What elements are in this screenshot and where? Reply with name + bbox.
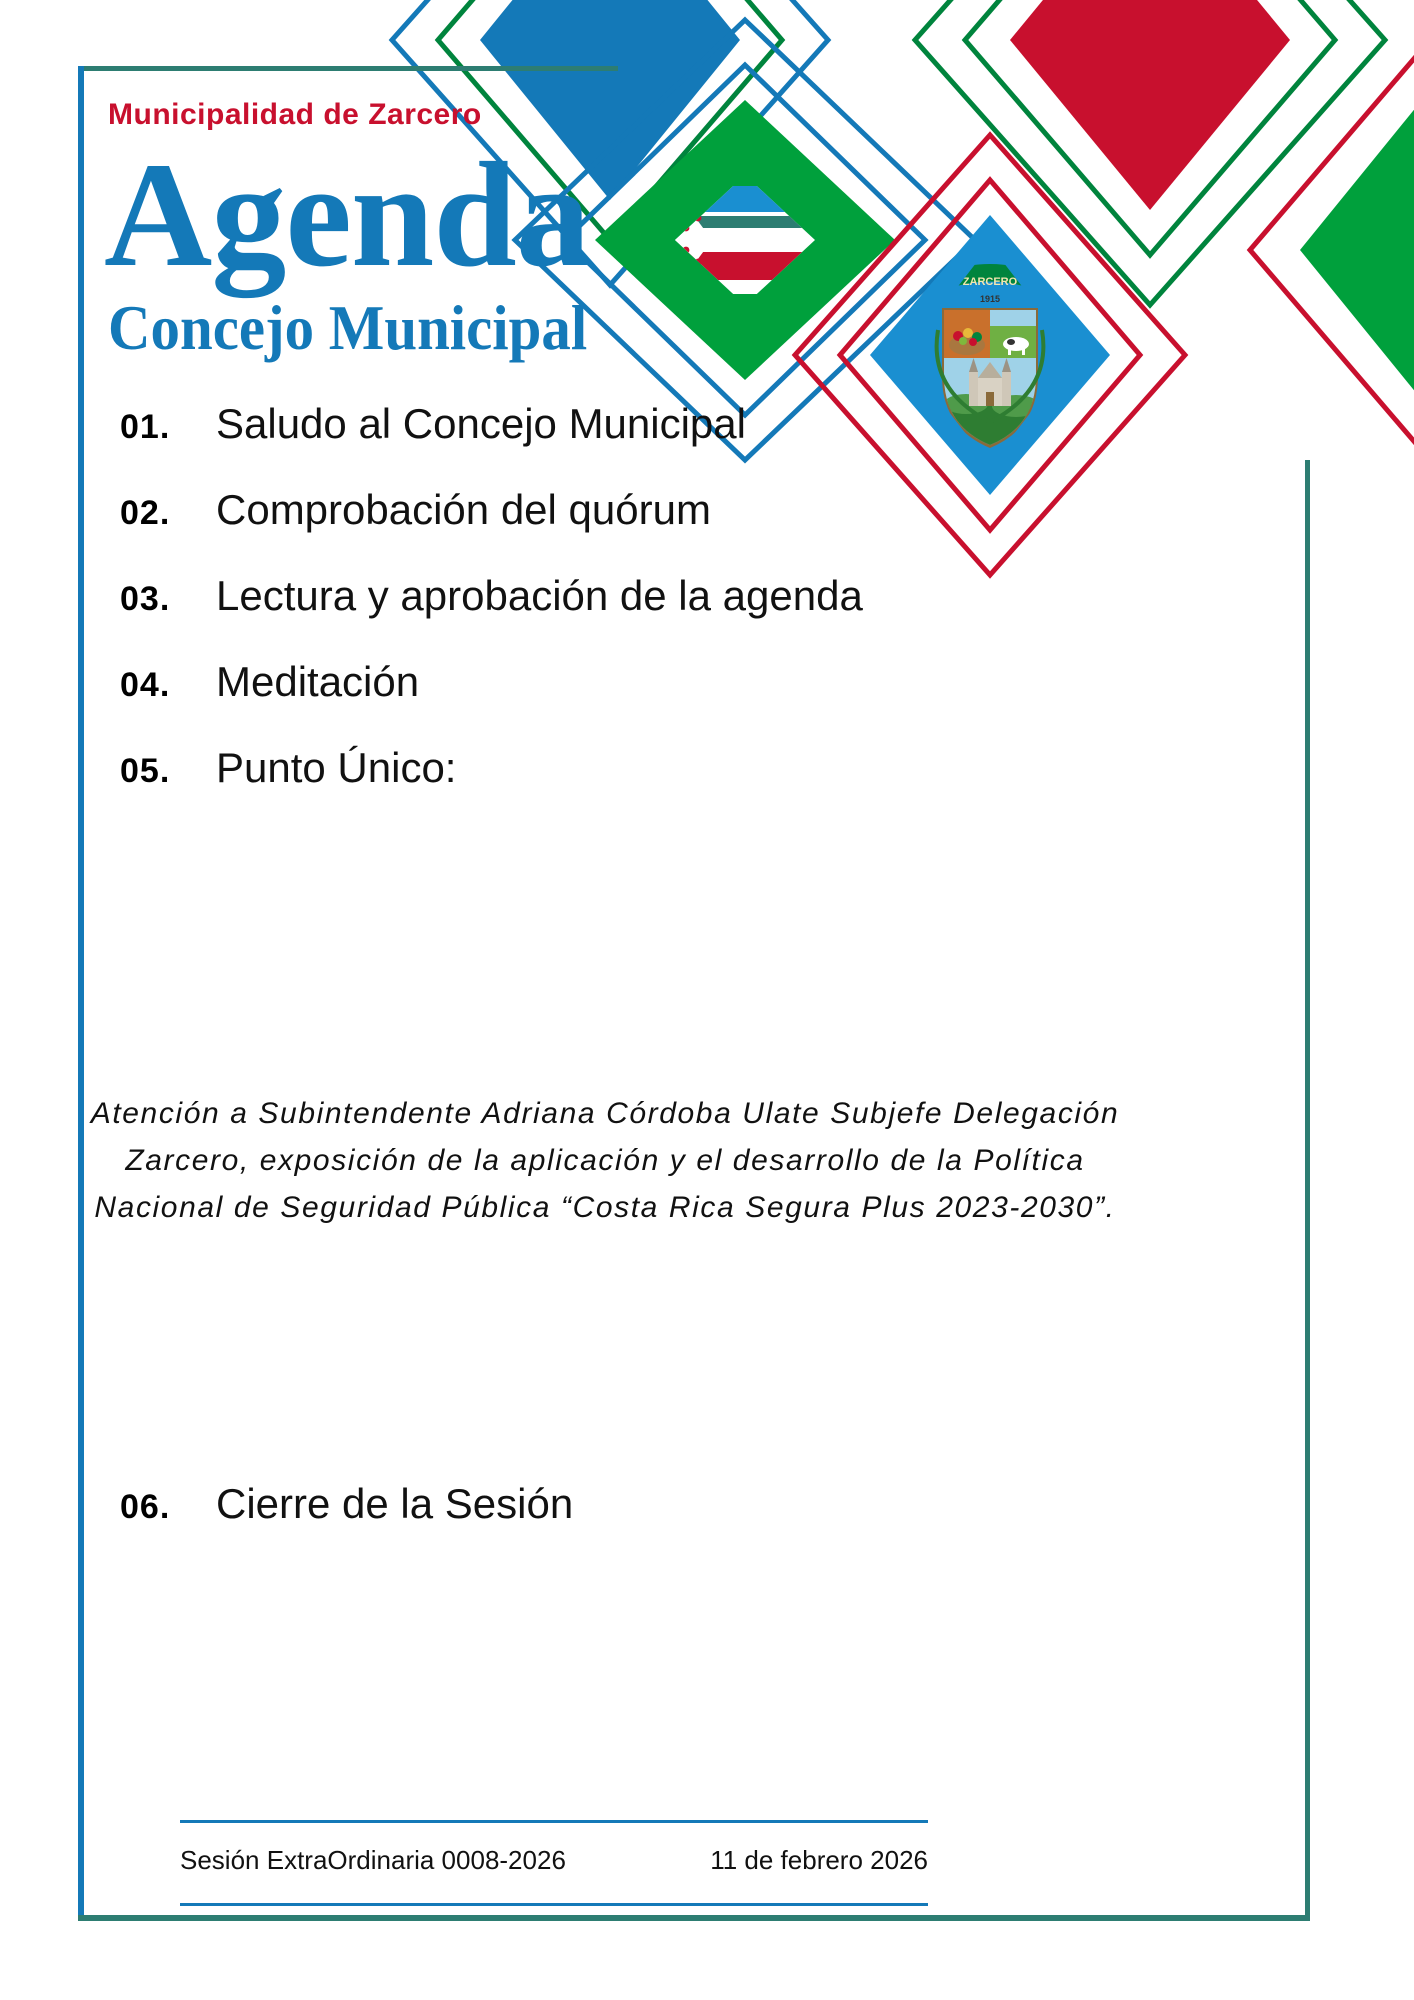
agenda-item-number: 01. bbox=[120, 408, 216, 447]
agenda-item-list: 01. Saludo al Concejo Municipal 02. Comp… bbox=[120, 400, 1120, 830]
agenda-item-01: 01. Saludo al Concejo Municipal bbox=[120, 400, 1120, 448]
frame-left-rule bbox=[78, 66, 84, 1920]
agenda-item-label: Saludo al Concejo Municipal bbox=[216, 400, 746, 448]
agenda-item-detail-text: Atención a Subintendente Adriana Córdoba… bbox=[90, 1090, 1120, 1231]
diamond-red-solid bbox=[1010, 0, 1290, 210]
agenda-item-label: Comprobación del quórum bbox=[216, 486, 711, 534]
agenda-item-number: 05. bbox=[120, 752, 216, 791]
session-date: 11 de febrero 2026 bbox=[600, 1845, 928, 1876]
diamond-green-solid-center bbox=[595, 100, 895, 380]
frame-top-rule bbox=[78, 66, 618, 71]
agenda-poster: ZARCERO 1915 bbox=[0, 0, 1414, 2000]
agenda-item-04: 04. Meditación bbox=[120, 658, 1120, 706]
footer-bottom-rule bbox=[180, 1903, 928, 1906]
agenda-item-03: 03. Lectura y aprobación de la agenda bbox=[120, 572, 1120, 620]
page-title: Agenda bbox=[104, 140, 590, 290]
agenda-item-label: Cierre de la Sesión bbox=[216, 1480, 573, 1528]
diamond-green-outline-2 bbox=[965, 0, 1335, 255]
frame-right-rule bbox=[1305, 460, 1310, 1920]
organization-name: Municipalidad de Zarcero bbox=[108, 98, 482, 132]
frame-bottom-rule bbox=[78, 1915, 1310, 1921]
page-subtitle: Concejo Municipal bbox=[108, 296, 587, 360]
agenda-item-number: 03. bbox=[120, 580, 216, 619]
zarcero-flag-icon bbox=[672, 186, 820, 294]
agenda-item-label: Meditación bbox=[216, 658, 419, 706]
svg-text:ZARCERO: ZARCERO bbox=[963, 276, 1018, 288]
session-label: Sesión ExtraOrdinaria 0008-2026 bbox=[180, 1845, 566, 1876]
agenda-item-05: 05. Punto Único: bbox=[120, 744, 1120, 792]
agenda-item-number: 02. bbox=[120, 494, 216, 533]
svg-text:1915: 1915 bbox=[980, 294, 1000, 304]
agenda-item-06: 06. Cierre de la Sesión bbox=[120, 1480, 573, 1528]
agenda-item-label: Punto Único: bbox=[216, 744, 456, 792]
agenda-item-02: 02. Comprobación del quórum bbox=[120, 486, 1120, 534]
diamond-green-solid-right bbox=[1300, 90, 1414, 410]
footer-top-rule bbox=[180, 1820, 928, 1823]
diamond-red-outline-right bbox=[1250, 40, 1414, 460]
agenda-item-number: 04. bbox=[120, 666, 216, 705]
agenda-item-label: Lectura y aprobación de la agenda bbox=[216, 572, 863, 620]
diamond-blue-outline-center-inner bbox=[565, 65, 925, 415]
agenda-item-number: 06. bbox=[120, 1488, 216, 1527]
diamond-green-outline-3 bbox=[915, 0, 1385, 305]
